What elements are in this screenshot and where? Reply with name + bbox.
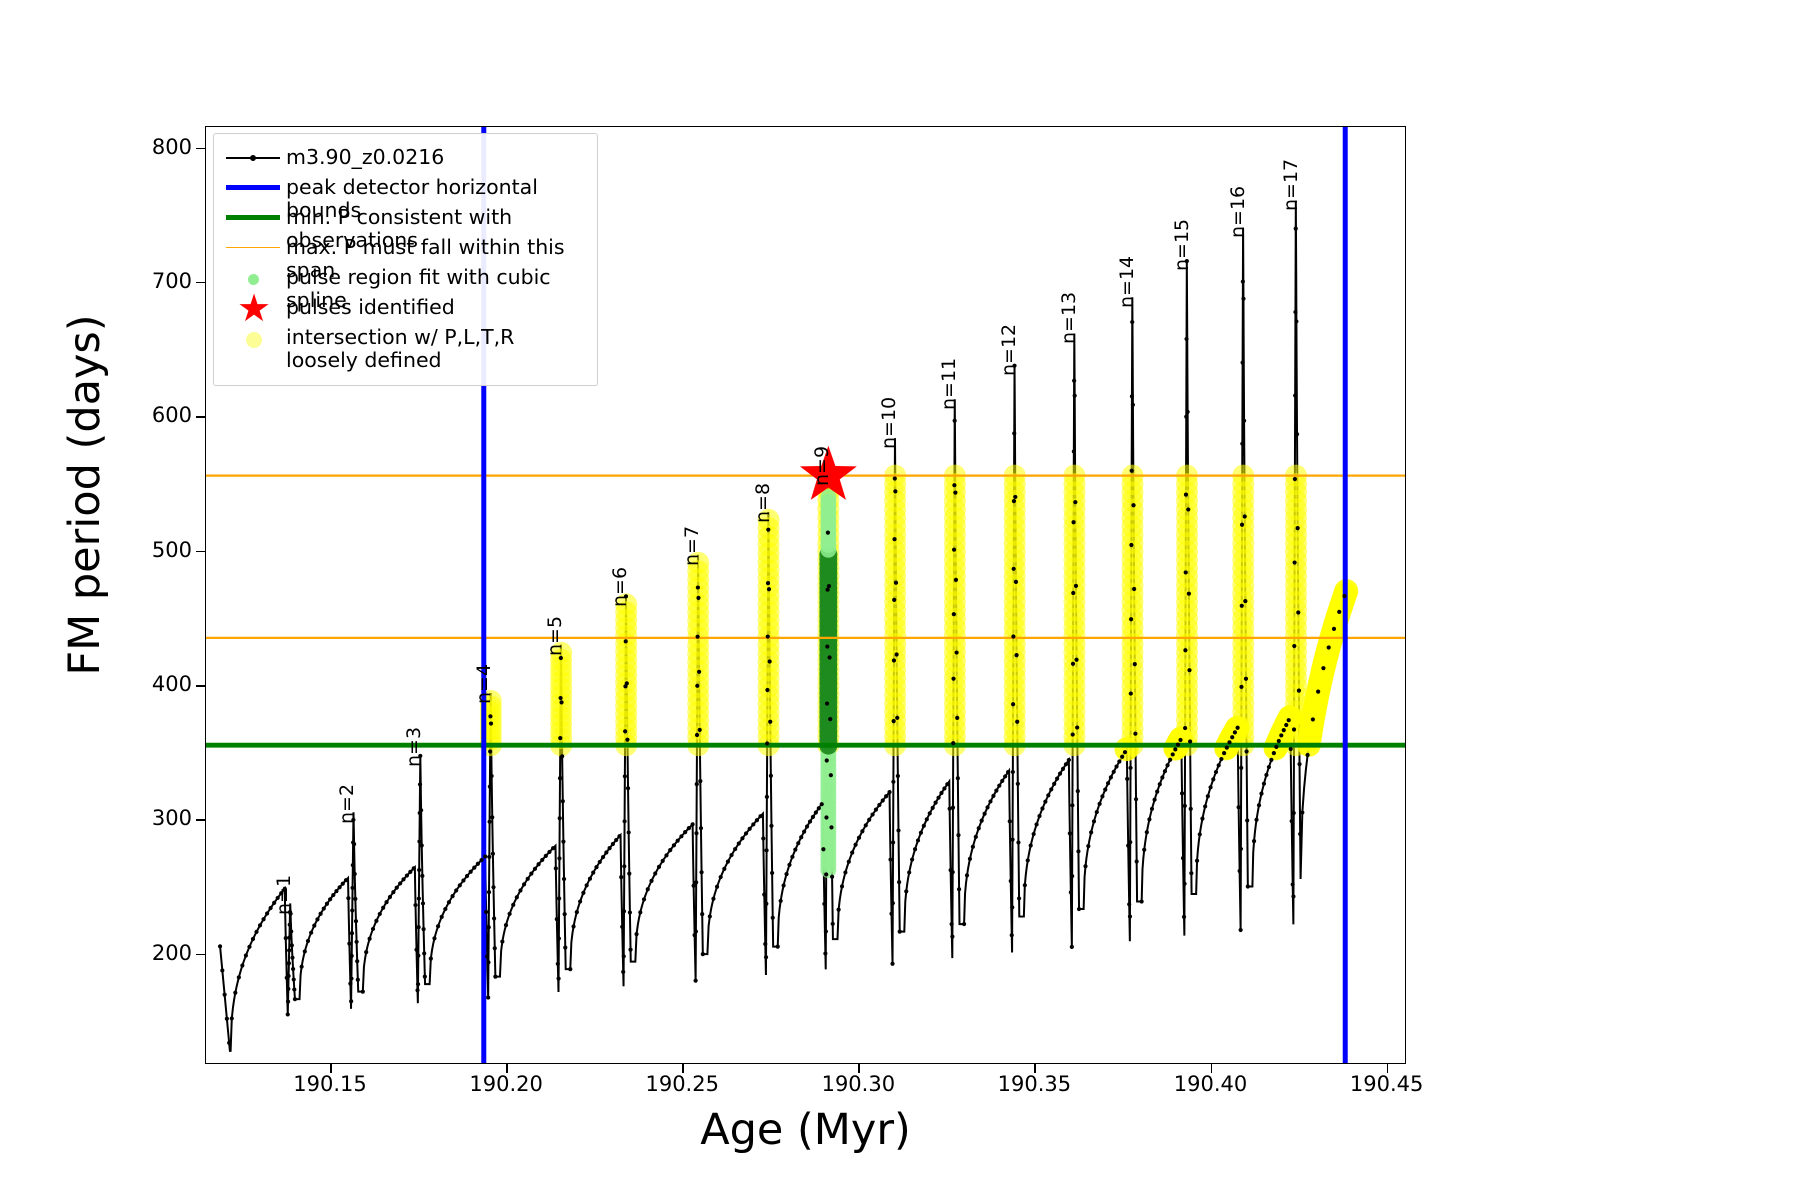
series-data-point [1068,831,1072,835]
series-data-point [916,838,920,842]
series-data-point [646,887,650,891]
series-data-point [1277,739,1281,743]
series-data-point [860,829,864,833]
series-data-point [1295,432,1299,436]
series-data-point [1128,766,1132,770]
series-data-point [1342,594,1346,598]
series-data-point [965,873,969,877]
y-tick-label: 600 [72,403,192,427]
series-data-point [626,786,630,790]
series-data-point [288,923,292,927]
series-data-point [642,897,646,901]
series-data-point [346,896,350,900]
series-data-point [374,919,378,923]
series-data-point [303,949,307,953]
series-data-point [292,987,296,991]
series-data-point [1243,599,1247,603]
series-data-point [540,858,544,862]
series-data-point [1296,610,1300,614]
intersection-point [1115,737,1139,761]
series-data-point [1009,879,1013,883]
series-data-point [1092,819,1096,823]
series-data-point [240,963,244,967]
series-data-point [826,531,830,535]
pulse-label-n-11: n=11 [938,358,960,410]
series-data-point [1023,883,1027,887]
series-data-point [1244,677,1248,681]
series-data-point [350,954,354,958]
series-data-point [388,895,392,899]
series-data-point [1072,449,1076,453]
series-data-point [1112,770,1116,774]
series-data-point [828,717,832,721]
x-tick-mark [858,1064,860,1073]
series-data-point [1132,587,1136,591]
series-data-point [623,774,627,778]
series-data-point [1219,757,1223,761]
series-data-point [1184,570,1188,574]
series-data-point [919,831,923,835]
series-data-point [1076,849,1080,853]
series-data-point [417,925,421,929]
series-data-point [847,860,851,864]
series-data-point [1239,928,1243,932]
series-data-point [1163,769,1167,773]
series-data-point [895,652,899,656]
series-data-point [888,857,892,861]
series-data-point [1294,319,1298,323]
series-data-point [891,780,895,784]
legend-item[interactable]: min. P consistent with observations [224,203,587,233]
series-data-point [1130,469,1134,473]
series-data-point [968,857,972,861]
series-data-point [952,483,956,487]
pulse-label-n-17: n=17 [1280,159,1302,211]
series-data-point [1245,818,1249,822]
series-data-point [547,850,551,854]
series-data-point [621,970,625,974]
legend: m3.90_z0.0216peak detector horizontal bo… [213,133,598,386]
series-data-point [922,824,926,828]
series-data-point [490,774,494,778]
series-data-point [1274,745,1278,749]
series-data-point [1337,610,1341,614]
series-data-point [420,843,424,847]
series-data-point [733,847,737,851]
series-data-point [782,883,786,887]
series-data-point [1127,902,1131,906]
series-data-point [557,856,561,860]
series-data-point [694,979,698,983]
series-data-point [504,923,508,927]
series-data-point [694,880,698,884]
series-data-point [415,988,419,992]
series-data-point [559,700,563,704]
series-data-point [352,842,356,846]
series-data-point [1230,735,1234,739]
series-data-point [334,889,338,893]
series-data-point [1173,747,1177,751]
series-data-point [857,836,861,840]
series-data-point [1043,800,1047,804]
red-star-icon: ★ [237,293,271,323]
series-data-point [622,819,626,823]
series-data-point [698,728,702,732]
series-data-point [892,658,896,662]
series-data-point [485,954,489,958]
series-data-point [416,954,420,958]
series-data-point [1242,419,1246,423]
series-data-point [227,1041,231,1045]
series-data-point [1182,915,1186,919]
series-data-point [928,811,932,815]
series-data-point [955,716,959,720]
series-data-point [1184,492,1188,496]
series-data-point [408,870,412,874]
series-data-point [371,927,375,931]
series-data-point [1180,791,1184,795]
series-data-point [398,881,402,885]
series-data-point [418,782,422,786]
series-data-point [233,991,237,995]
series-data-point [1300,810,1304,814]
pulse-label-n-9: n=9 [811,446,833,486]
series-data-point [1073,500,1077,504]
series-data-point [765,688,769,692]
orange-line-swatch [226,247,280,249]
series-data-point [536,862,540,866]
series-data-point [526,877,530,881]
series-data-point [766,528,770,532]
series-data-point [220,968,224,972]
series-data-point [349,976,353,980]
series-data-point [768,659,772,663]
series-data-point [765,848,769,852]
legend-item[interactable]: m3.90_z0.0216 [224,143,587,173]
series-data-point [951,677,955,681]
y-tick-mark [196,416,205,418]
series-data-point [808,819,812,823]
series-data-point [824,929,828,933]
x-tick-label: 190.30 [778,1072,938,1096]
series-data-point [251,937,255,941]
series-data-point [1128,840,1132,844]
series-data-point [638,910,642,914]
series-data-point [1306,753,1310,757]
series-data-point [490,815,494,819]
series-data-point [533,867,537,871]
series-data-point [479,858,483,862]
x-tick-mark [682,1064,684,1073]
series-data-point [1147,817,1151,821]
series-data-point [361,990,365,994]
y-tick-mark [196,282,205,284]
series-data-point [620,925,624,929]
blue-line-swatch [226,185,280,190]
series-data-point [484,910,488,914]
series-data-point [1183,648,1187,652]
series-data-point [557,936,561,940]
legend-item[interactable]: intersection w/ P,L,T,R loosely defined [224,323,587,375]
series-data-point [265,911,269,915]
series-data-point [354,940,358,944]
series-data-point [766,581,770,585]
series-data-point [719,875,723,879]
series-data-point [588,877,592,881]
series-data-point [864,823,868,827]
series-data-point [657,865,661,869]
series-data-point [828,655,832,659]
series-data-point [1008,819,1012,823]
series-data-point [1010,933,1014,937]
intersection-point [1278,705,1302,729]
legend-item[interactable]: peak detector horizontal bounds [224,173,587,203]
series-data-point [1071,662,1075,666]
series-data-point [422,951,426,955]
series-data-point [522,882,526,886]
series-data-point [555,917,559,921]
series-data-point [874,808,878,812]
x-tick-label: 190.40 [1131,1072,1291,1096]
y-tick-mark [196,148,205,150]
series-data-point [1140,899,1144,903]
series-data-point [1072,379,1076,383]
series-data-point [980,819,984,823]
series-data-point [488,749,492,753]
series-data-point [578,899,582,903]
series-data-point [322,906,326,910]
series-data-point [904,889,908,893]
series-data-point [1133,732,1137,736]
series-data-point [971,845,975,849]
series-data-point [1123,750,1127,754]
series-data-point [1284,723,1288,727]
series-data-point [1186,507,1190,511]
series-data-point [391,890,395,894]
series-data-point [558,816,562,820]
series-data-point [1227,740,1231,744]
pulse-label-n-16: n=16 [1227,186,1249,238]
y-tick-label: 500 [72,538,192,562]
series-data-point [751,822,755,826]
series-data-point [1016,840,1020,844]
series-data-point [292,977,296,981]
series-data-point [776,945,780,949]
series-data-point [1327,645,1331,649]
series-data-point [821,847,825,851]
series-data-point [287,974,291,978]
series-data-point [766,634,770,638]
series-data-point [350,908,354,912]
series-data-point [997,784,1001,788]
series-data-point [395,886,399,890]
series-data-point [319,912,323,916]
series-data-point [405,873,409,877]
series-data-point [840,884,844,888]
series-data-point [594,865,598,869]
series-data-point [820,802,824,806]
series-data-point [293,997,297,1001]
series-data-point [1279,733,1283,737]
y-tick-mark [196,819,205,821]
series-data-point [907,870,911,874]
series-data-point [417,839,421,843]
series-data-point [1145,830,1149,834]
series-data-point [1013,495,1017,499]
series-data-point [1292,727,1296,731]
series-data-point [1311,717,1315,721]
series-data-point [1186,410,1190,414]
series-data-point [1128,914,1132,918]
series-data-point [450,894,454,898]
series-data-point [556,976,560,980]
series-data-point [622,954,626,958]
x-tick-label: 190.25 [602,1072,762,1096]
series-data-point [945,782,949,786]
series-data-point [694,929,698,933]
series-data-point [1037,814,1041,818]
series-data-point [758,814,762,818]
series-data-point [436,924,440,928]
series-data-point [1011,702,1015,706]
series-data-point [1298,832,1302,836]
x-tick-label: 190.45 [1307,1072,1467,1096]
series-data-point [1293,477,1297,481]
series-data-point [831,922,835,926]
series-data-point [487,820,491,824]
series-data-point [368,937,372,941]
series-data-point [881,798,885,802]
series-data-point [624,639,628,643]
series-data-point [1222,751,1226,755]
legend-swatch [224,173,282,203]
y-tick-label: 400 [72,672,192,696]
pulse-label-n-1: n=1 [273,875,295,915]
series-data-point [761,836,765,840]
series-data-point [1189,807,1193,811]
series-data-point [511,903,515,907]
series-data-point [429,956,433,960]
series-data-point [1259,791,1263,795]
series-data-point [699,870,703,874]
series-data-point [1291,894,1295,898]
series-data-point [604,850,608,854]
series-data-point [687,826,691,830]
series-data-point [991,794,995,798]
series-data-point [1134,797,1138,801]
series-data-point [1243,514,1247,518]
series-data-point [1117,759,1121,763]
series-data-point [325,902,329,906]
series-data-point [1267,765,1271,769]
series-data-point [715,885,719,889]
series-data-point [1074,658,1078,662]
series-data-point [1089,830,1093,834]
series-data-point [347,942,351,946]
series-data-point [1187,668,1191,672]
series-data-point [598,860,602,864]
series-data-point [563,912,567,916]
legend-item[interactable]: pulse region fit with cubic spline [224,263,587,293]
series-data-point [1070,945,1074,949]
series-data-point [994,789,998,793]
series-data-point [518,888,522,892]
series-data-point [315,917,319,921]
series-data-point [461,878,465,882]
series-data-point [493,975,497,979]
series-data-point [892,537,896,541]
spline-fit-scatter-group [819,489,837,878]
series-data-point [500,939,504,943]
series-data-point [1129,543,1133,547]
series-data-point [653,871,657,875]
series-data-point [551,846,555,850]
series-data-point [829,825,833,829]
series-data-point [422,927,426,931]
series-data-point [1291,882,1295,886]
series-data-point [287,948,291,952]
series-data-point [867,818,871,822]
series-data-point [491,852,495,856]
series-data-point [1187,592,1191,596]
legend-label: intersection w/ P,L,T,R loosely defined [282,326,514,372]
series-data-point [558,736,562,740]
series-data-point [934,801,938,805]
series-data-point [762,893,766,897]
pulse-label-n-13: n=13 [1058,292,1080,344]
series-data-point [957,887,961,891]
series-data-point [1076,789,1080,793]
series-data-point [877,803,881,807]
x-tick-mark [330,1064,332,1073]
pulse-label-n-3: n=3 [403,727,425,767]
series-data-point [1239,847,1243,851]
series-data-point [1098,802,1102,806]
series-data-point [755,818,759,822]
series-data-point [223,993,227,997]
series-data-point [575,910,579,914]
series-data-point [1293,393,1297,397]
series-data-point [1016,782,1020,786]
y-tick-mark [196,685,205,687]
y-tick-label: 800 [72,135,192,159]
series-data-point [291,967,295,971]
legend-item[interactable]: max. P must fall within this span [224,233,587,263]
series-data-point [763,942,767,946]
series-data-point [312,924,316,928]
series-data-point [472,866,476,870]
series-data-point [822,902,826,906]
series-data-point [225,1017,229,1021]
series-data-point [529,872,533,876]
series-data-point [1135,859,1139,863]
series-data-point [341,882,345,886]
series-data-point [1129,617,1133,621]
series-data-point [893,489,897,493]
series-data-point [349,999,353,1003]
series-data-point [568,967,572,971]
series-data-point [974,835,978,839]
legend-swatch [224,203,282,233]
series-data-point [378,912,382,916]
series-data-point [619,875,623,879]
series-data-point [1188,739,1192,743]
series-data-point [925,817,929,821]
series-data-point [487,925,491,929]
series-data-point [765,795,769,799]
series-data-point [625,681,629,685]
series-data-point [286,1012,290,1016]
